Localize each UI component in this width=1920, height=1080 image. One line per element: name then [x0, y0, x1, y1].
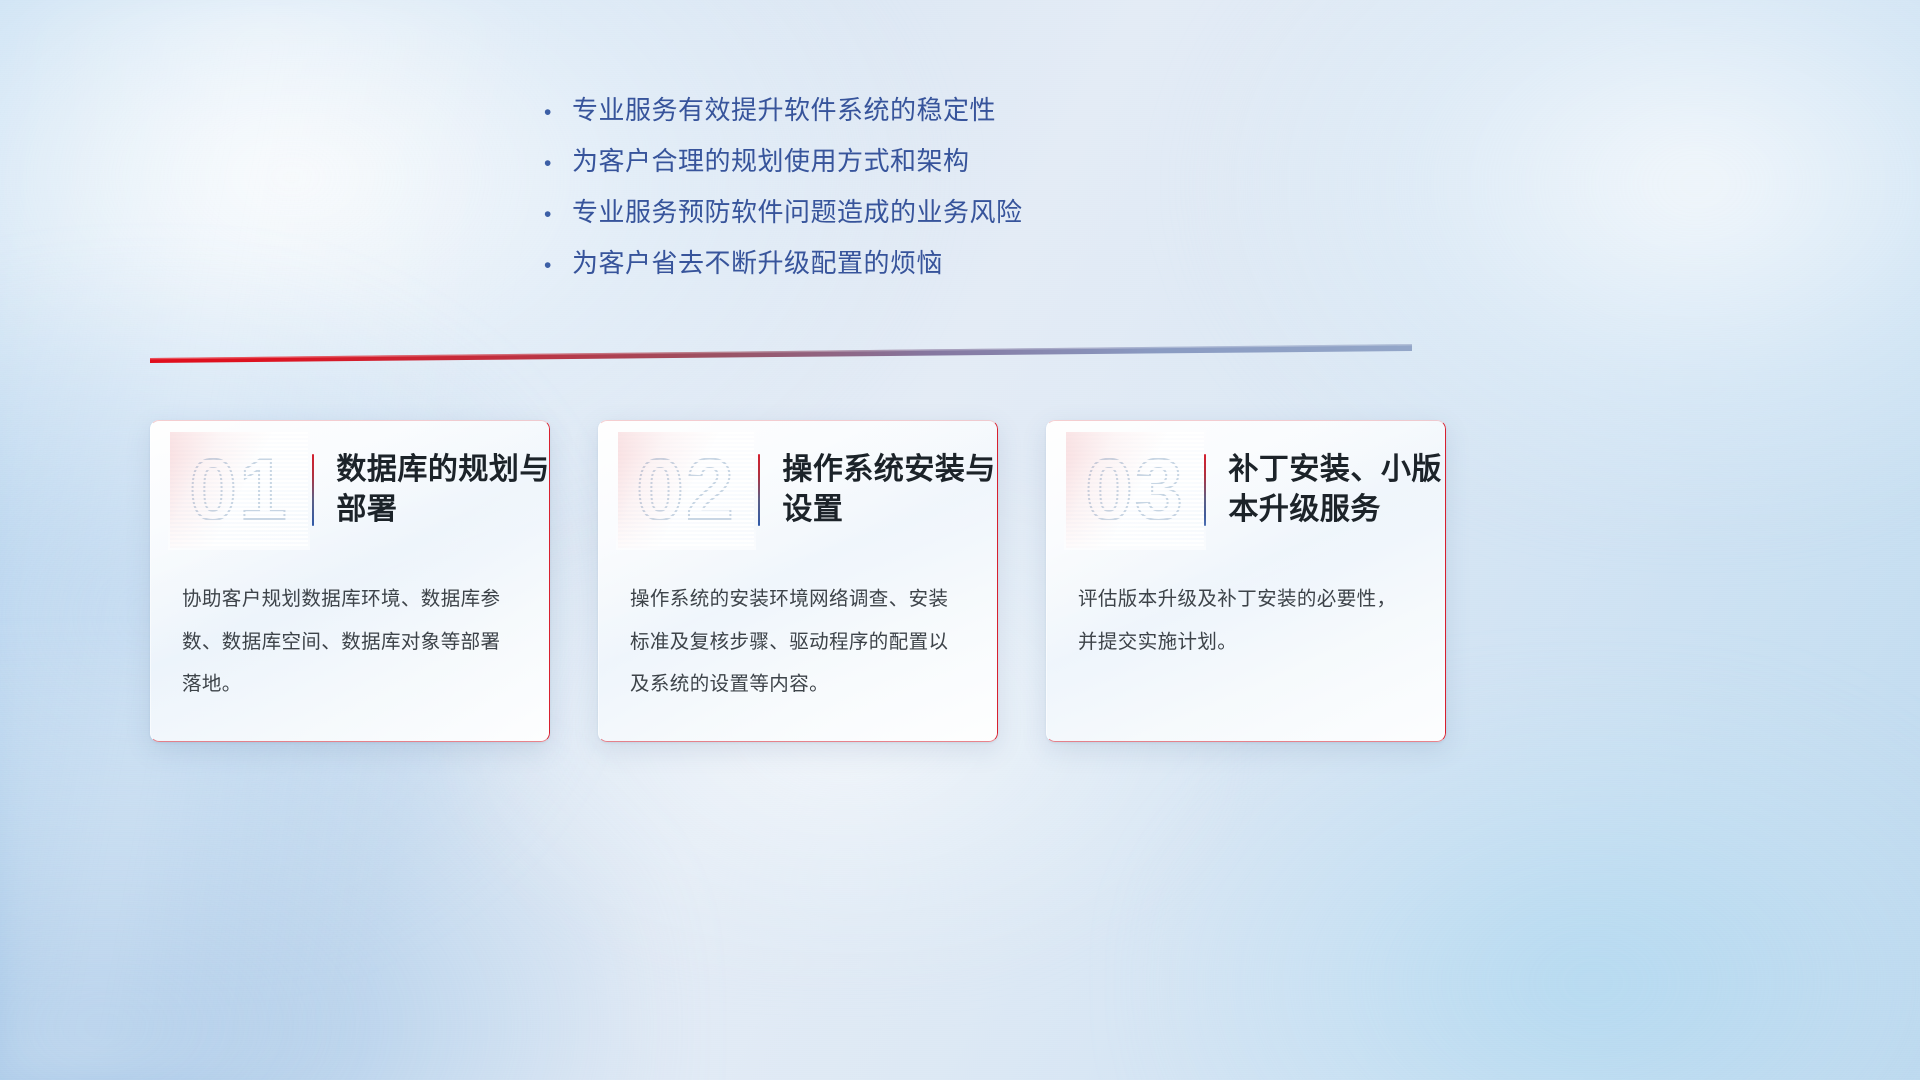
bullet-dot-icon: • [536, 255, 572, 276]
card-title: 操作系统安装与设置 [782, 450, 998, 530]
card-accent-rule [312, 454, 314, 526]
bullet-item: • 为客户省去不断升级配置的烦恼 [536, 243, 1156, 294]
card-number-text: 03 [1085, 447, 1185, 533]
bullet-dot-icon: • [536, 204, 572, 225]
bullet-item: • 专业服务预防软件问题造成的业务风险 [536, 192, 1156, 243]
bullet-item: • 为客户合理的规划使用方式和架构 [536, 141, 1156, 192]
bullet-item-text: 为客户省去不断升级配置的烦恼 [572, 243, 943, 280]
bullet-item-text: 专业服务有效提升软件系统的稳定性 [572, 90, 996, 127]
card-number-text: 02 [636, 447, 736, 533]
section-divider [150, 340, 1412, 364]
card-number-badge: 03 [1072, 438, 1198, 542]
card-description: 评估版本升级及补丁安装的必要性，并提交实施计划。 [1046, 560, 1446, 663]
bullet-item-text: 专业服务预防软件问题造成的业务风险 [572, 192, 1023, 229]
card-title: 数据库的规划与部署 [336, 450, 550, 530]
card-header: 01 数据库的规划与部署 [150, 420, 550, 560]
service-card-list: 01 数据库的规划与部署 协助客户规划数据库环境、数据库参数、数据库空间、数据库… [150, 420, 1450, 742]
card-description: 协助客户规划数据库环境、数据库参数、数据库空间、数据库对象等部署落地。 [150, 560, 550, 706]
card-description: 操作系统的安装环境网络调查、安装标准及复核步骤、驱动程序的配置以及系统的设置等内… [598, 560, 998, 706]
card-accent-rule [758, 454, 760, 526]
bullet-item: • 专业服务有效提升软件系统的稳定性 [536, 90, 1156, 141]
service-card[interactable]: 03 补丁安装、小版本升级服务 评估版本升级及补丁安装的必要性，并提交实施计划。 [1046, 420, 1446, 742]
bullet-dot-icon: • [536, 102, 572, 123]
card-number-text: 01 [189, 447, 289, 533]
bullet-dot-icon: • [536, 153, 572, 174]
service-card[interactable]: 02 操作系统安装与设置 操作系统的安装环境网络调查、安装标准及复核步骤、驱动程… [598, 420, 998, 742]
card-header: 03 补丁安装、小版本升级服务 [1046, 420, 1446, 560]
card-header: 02 操作系统安装与设置 [598, 420, 998, 560]
divider-shape [150, 340, 1412, 364]
card-number-badge: 02 [624, 438, 748, 542]
card-number-badge: 01 [176, 438, 302, 542]
service-card[interactable]: 01 数据库的规划与部署 协助客户规划数据库环境、数据库参数、数据库空间、数据库… [150, 420, 550, 742]
card-accent-rule [1204, 454, 1206, 526]
benefits-bullet-list: • 专业服务有效提升软件系统的稳定性 • 为客户合理的规划使用方式和架构 • 专… [536, 90, 1156, 294]
bullet-item-text: 为客户合理的规划使用方式和架构 [572, 141, 970, 178]
card-title: 补丁安装、小版本升级服务 [1228, 450, 1446, 530]
